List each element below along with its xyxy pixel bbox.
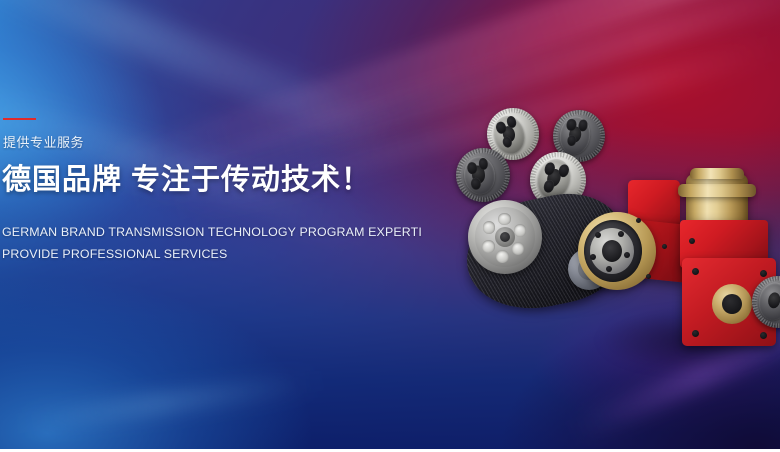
gearbox-right-plate-bolt: [760, 270, 767, 277]
gearbox-right-brass-collar: [678, 184, 756, 197]
pulley-body: [748, 272, 780, 332]
gearbox-right-housing-bolt: [689, 238, 695, 244]
pulley-body: [523, 145, 592, 214]
gearbox-left-mid-housing: [632, 219, 686, 283]
light-ray-violet: [569, 286, 780, 444]
pulley-bolt: [566, 134, 577, 147]
subtitle-chinese: 提供专业服务: [3, 136, 422, 149]
pulley-bolt: [566, 119, 577, 132]
pulley-hub-face: [490, 113, 528, 157]
pulley-body: [481, 102, 544, 165]
pulley-bolt: [542, 179, 555, 194]
pulley-bolt: [557, 163, 570, 178]
pulley-teeth: [523, 145, 592, 214]
gearbox-right-plate-bolt: [760, 332, 767, 339]
sprocket-center-bore: [500, 232, 510, 242]
sprocket-lightening-hole: [496, 250, 509, 263]
headline-chinese: 德国品牌 专注于传动技术！: [2, 165, 422, 196]
pulley-bore: [501, 124, 517, 143]
gearbox-right-brass-barrel: [686, 174, 748, 226]
accent-rule: [3, 118, 36, 120]
pulley-bolt: [466, 162, 477, 175]
pulley-teeth: [481, 102, 544, 165]
sprocket-lightening-hole: [483, 221, 496, 234]
belt-sprocket-small: [568, 248, 610, 290]
pulley-hub-face: [533, 155, 575, 203]
gearbox-left-housing-bolt: [662, 244, 667, 249]
sprocket-center-boss: [495, 227, 516, 248]
gearbox-right-mounting-plate: [682, 258, 776, 346]
sprocket-boss: [578, 258, 600, 280]
timing-pulley-dark-left: [453, 145, 512, 204]
gearbox-right-housing: [680, 220, 768, 268]
right-angle-planetary-gearbox-right: [668, 160, 780, 340]
sprocket-rim: [468, 200, 542, 274]
pulley-hub-face: [756, 280, 780, 322]
sprocket-lightening-hole: [482, 240, 495, 253]
sprocket-teeth: [568, 248, 610, 290]
gearbox-left-flange-face: [590, 228, 634, 274]
pulley-teeth: [453, 145, 512, 204]
timing-pulley-silver-lower: [523, 145, 592, 214]
montage-shadow-gearbox: [600, 310, 780, 370]
gearbox-right-output-bore: [722, 294, 742, 314]
pulley-body: [453, 145, 512, 204]
sprocket-lightening-hole: [498, 213, 511, 226]
sprocket-lightening-hole: [514, 224, 527, 237]
pulley-bolt: [506, 115, 518, 128]
tagline-english-line-1: GERMAN BRAND TRANSMISSION TECHNOLOGY PRO…: [2, 222, 422, 243]
sprocket-lightening-hole: [512, 242, 525, 255]
pulley-bore: [568, 125, 583, 143]
pulley-bolt: [544, 162, 557, 177]
promotional-banner: 提供专业服务 德国品牌 专注于传动技术！ GERMAN BRAND TRANSM…: [0, 0, 780, 452]
pulley-bolt: [470, 177, 481, 190]
gearbox-left-flange-bolt: [618, 231, 624, 237]
pulley-bore: [766, 291, 780, 310]
pulley-bore: [545, 167, 563, 188]
montage-shadow-belt: [470, 250, 640, 310]
pulley-hub-face: [462, 154, 497, 196]
pulley-bolt: [495, 121, 507, 134]
timing-pulley-dark-right: [550, 107, 609, 166]
gearbox-left-output-flange: [578, 212, 656, 290]
gearbox-right-plate-bolt: [692, 268, 699, 275]
banner-copy-block: 提供专业服务 德国品牌 专注于传动技术！ GERMAN BRAND TRANSM…: [2, 118, 422, 265]
sprocket-bore: [585, 265, 593, 273]
pulley-teeth: [550, 107, 609, 166]
pulley-teeth: [748, 272, 780, 332]
gearbox-left-housing-bolt: [636, 218, 641, 223]
belt-sprocket-large: [468, 200, 542, 274]
gearbox-left-output-hub: [602, 240, 622, 262]
light-ray-blue-lower: [20, 371, 320, 433]
pulley-bolt: [501, 136, 513, 149]
sprocket-web: [475, 207, 534, 266]
gearbox-right-brass-cap: [690, 168, 744, 179]
pulley-body: [550, 107, 609, 166]
timing-pulley-edge-partial: [748, 272, 780, 332]
timing-pulley-silver-top: [481, 102, 544, 165]
gearbox-left-flange-bolt: [624, 252, 630, 258]
right-angle-planetary-gearbox-left: [570, 178, 720, 318]
timing-belt-ribs: [457, 183, 636, 322]
gearbox-left-flange-bolt: [595, 232, 601, 238]
pulley-bolt: [578, 119, 589, 132]
tagline-english-line-2: PROVIDE PROFESSIONAL SERVICES: [2, 244, 422, 265]
pulley-bore: [471, 165, 486, 184]
gearbox-left-top-housing: [628, 180, 680, 236]
gearbox-right-plate-bolt: [692, 330, 699, 337]
pulley-hub-face: [558, 115, 593, 156]
gearbox-left-flange-ring: [584, 220, 642, 282]
timing-belt-drive-assembly: [466, 198, 626, 306]
gearbox-left-flange-bolt: [606, 266, 612, 272]
sprocket-rim: [568, 248, 610, 290]
timing-belt: [457, 183, 636, 322]
gearbox-left-flange-bolt: [590, 254, 596, 260]
pulley-bolt: [478, 157, 489, 170]
sprocket-teeth: [468, 200, 542, 274]
gearbox-left-housing-bolt: [646, 274, 651, 279]
gearbox-right-output-bore-collar: [712, 284, 752, 324]
